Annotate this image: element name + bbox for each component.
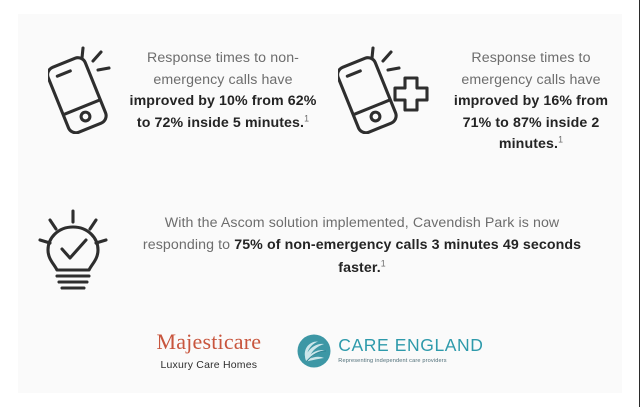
summary-emphasis-text: 75% of non-emergency calls 3 minutes 49 … <box>234 237 581 275</box>
care-england-logo: CARE ENGLAND Representing independent ca… <box>297 334 483 368</box>
footnote-marker: 1 <box>304 113 309 123</box>
stat-lead-text: Response times to non-emergency calls ha… <box>147 50 299 88</box>
stats-row: Response times to non-emergency calls ha… <box>18 26 622 176</box>
stat-emphasis-text: improved by 16% from 71% to 87% inside 2… <box>454 93 608 152</box>
lightbulb-check-icon <box>18 196 128 292</box>
stat-block-emergency: Response times to emergency calls have i… <box>318 26 622 156</box>
stat-text-non-emergency: Response times to non-emergency calls ha… <box>128 26 318 134</box>
footnote-marker: 1 <box>558 135 563 145</box>
ringing-phone-icon <box>32 26 128 134</box>
footnote-marker: 1 <box>381 258 386 268</box>
stat-text-emergency: Response times to emergency calls have i… <box>440 26 622 156</box>
stat-block-non-emergency: Response times to non-emergency calls ha… <box>18 26 318 134</box>
stat-lead-text: Response times to emergency calls have <box>461 50 600 88</box>
majesticare-logo: Majesticare Luxury Care Homes <box>156 331 261 371</box>
care-england-emblem-icon <box>297 334 331 368</box>
infographic-root: Response times to non-emergency calls ha… <box>0 0 640 407</box>
summary-text: With the Ascom solution implemented, Cav… <box>128 196 622 279</box>
majesticare-wordmark: Majesticare <box>156 331 261 353</box>
care-england-wordmark: CARE ENGLAND <box>338 337 483 355</box>
majesticare-tagline: Luxury Care Homes <box>156 360 261 371</box>
stat-emphasis-text: improved by 10% from 62% to 72% inside 5… <box>130 93 317 131</box>
summary-row: With the Ascom solution implemented, Cav… <box>18 196 622 304</box>
care-england-tagline: Representing independent care providers <box>338 359 483 365</box>
ringing-phone-medical-icon <box>328 26 440 134</box>
logo-row: Majesticare Luxury Care Homes CARE ENGLA… <box>18 322 622 380</box>
